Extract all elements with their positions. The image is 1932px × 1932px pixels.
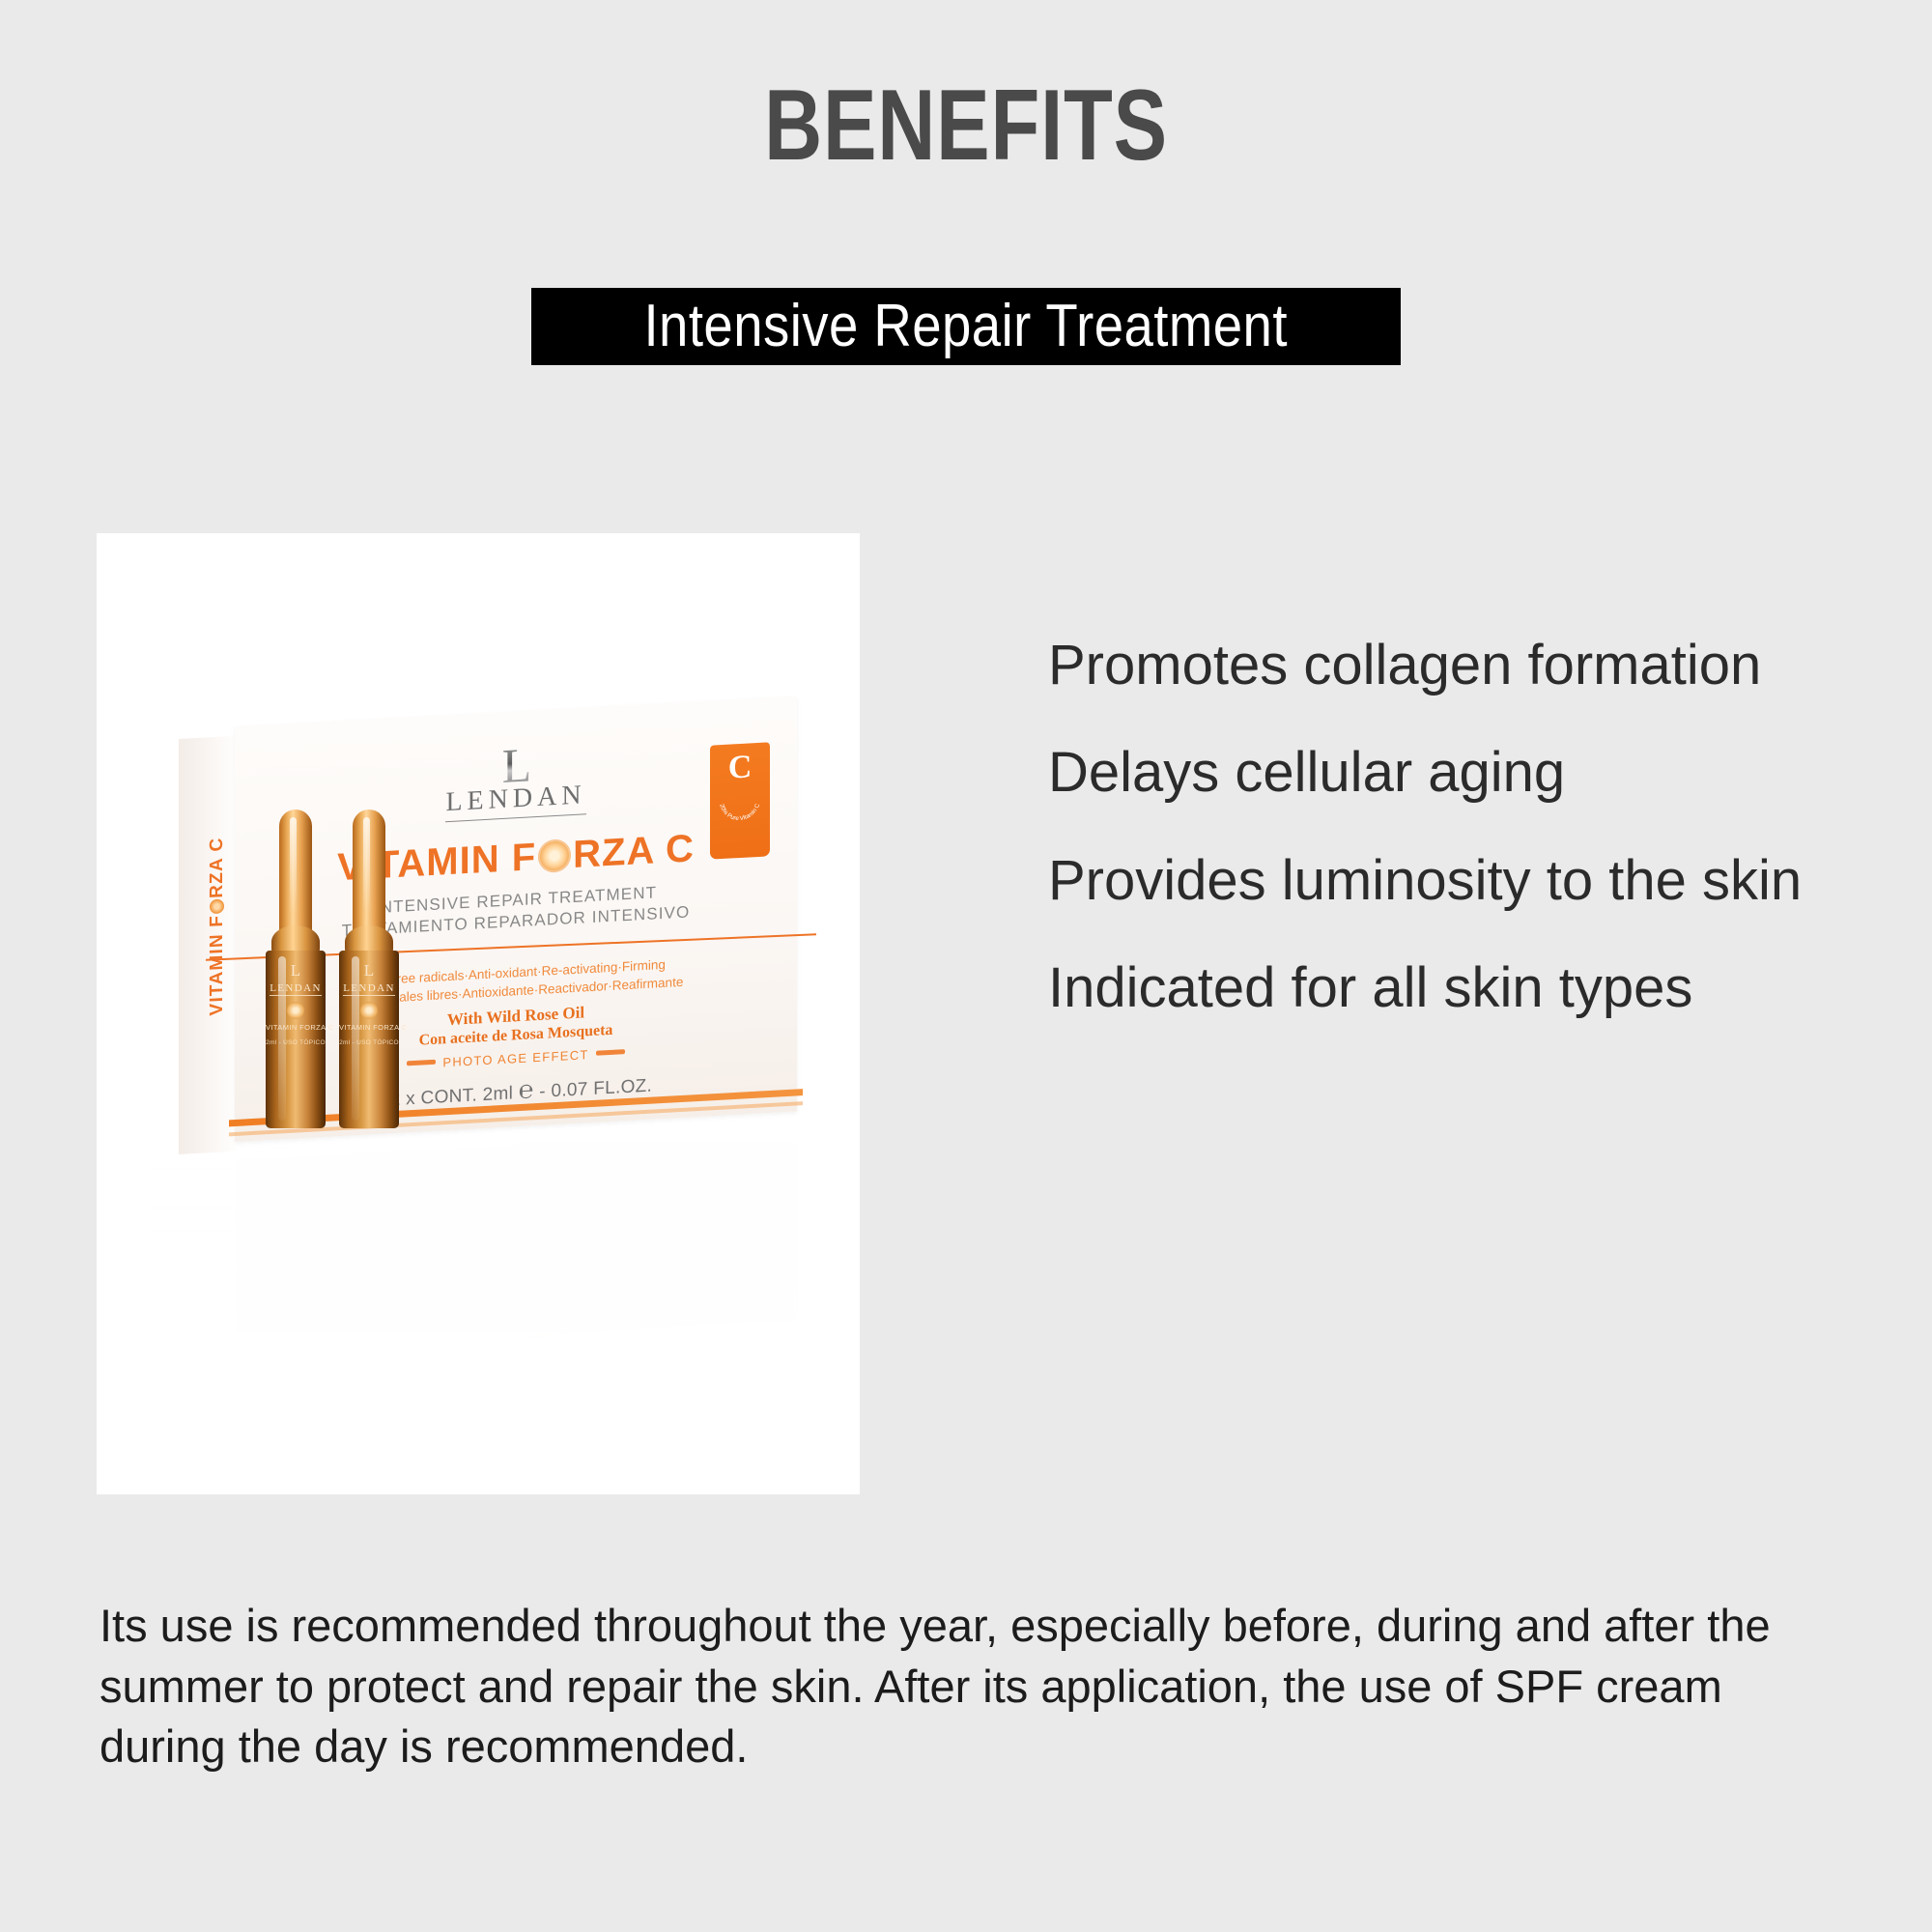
ampoule-neck [353, 810, 385, 937]
svg-text:20% Pure Vitamin C: 20% Pure Vitamin C [718, 801, 761, 823]
ampoule-body [339, 951, 399, 1128]
ampoule-body [266, 951, 326, 1128]
ampoule-back: L LENDAN VITAMIN FORZA C 2ml - USO TÓPIC… [339, 810, 399, 1128]
package-title-post: RZA C [573, 827, 695, 876]
package-side-title-pre: VITAMIN F [207, 914, 227, 1016]
benefit-item: Indicated for all skin types [1048, 955, 1850, 1020]
photo-age-label: PHOTO AGE EFFECT [442, 1047, 588, 1069]
benefits-list: Promotes collagen formation Delays cellu… [1048, 633, 1850, 1063]
product-package: VITAMIN FRZA C L LENDAN VITAMIN FRZA C I… [150, 726, 797, 1142]
package-side-title: VITAMIN FRZA C [207, 742, 228, 1110]
package-side-title-post: RZA C [207, 837, 227, 898]
estimated-sign-icon: ℮ [519, 1075, 534, 1104]
ampoule-neck [279, 810, 312, 937]
benefit-item: Delays cellular aging [1048, 740, 1850, 805]
package-side-panel: VITAMIN FRZA C [179, 736, 239, 1154]
citrus-slice-icon [538, 838, 571, 873]
product-reflection [150, 1144, 797, 1337]
usage-recommendation-note: Its use is recommended throughout the ye… [99, 1596, 1829, 1777]
product-image-panel: VITAMIN FRZA C L LENDAN VITAMIN FRZA C I… [97, 533, 860, 1494]
ampoule-front: L LENDAN VITAMIN FORZA C 2ml - USO TÓPIC… [266, 810, 326, 1128]
benefit-item: Promotes collagen formation [1048, 633, 1850, 697]
citrus-slice-icon [210, 898, 224, 914]
benefit-item: Provides luminosity to the skin [1048, 848, 1850, 913]
page-title: BENEFITS [193, 75, 1739, 176]
subtitle-text: Intensive Repair Treatment [644, 297, 1288, 356]
badge-letter: C [710, 750, 770, 785]
dash-left-icon [407, 1060, 436, 1066]
subtitle-banner: Intensive Repair Treatment [531, 288, 1401, 365]
badge-ring-text: 20% Pure Vitamin C [718, 801, 761, 823]
vitamin-c-badge: 20% Pure Vitamin C C [710, 742, 770, 859]
brand-name: LENDAN [445, 780, 585, 822]
dash-right-icon [596, 1049, 625, 1056]
